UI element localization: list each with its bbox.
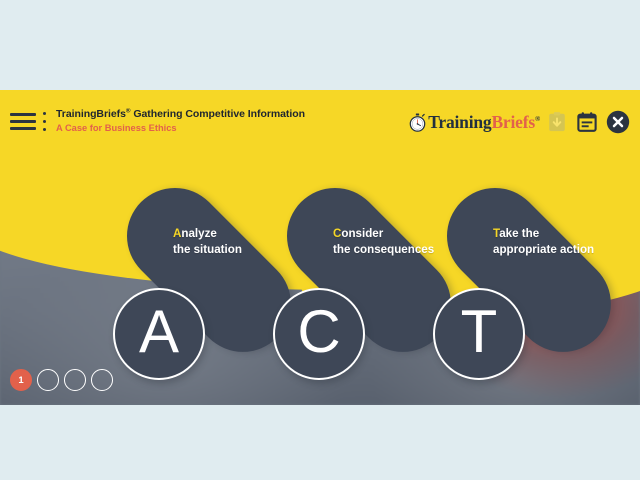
step-letter-t: T [461, 302, 498, 362]
kebab-dot [43, 112, 46, 115]
hamburger-bar [10, 127, 36, 130]
page-title: TrainingBriefs® Gathering Competitive In… [56, 109, 305, 120]
player-window: TrainingBriefs® Gathering Competitive In… [0, 0, 640, 480]
download-icon[interactable] [546, 111, 568, 133]
pagination: 1 [10, 369, 113, 391]
brand-registered-mark: ® [535, 115, 540, 123]
step-label-line1: Take the [493, 226, 633, 242]
step-line1-rest: ake the [499, 227, 539, 240]
slide-canvas: Analyze the situation A Consider the con… [0, 90, 640, 405]
player-header: TrainingBriefs® Gathering Competitive In… [0, 52, 640, 90]
step-letter-circle-t[interactable]: T [433, 288, 525, 380]
page-dot-4[interactable] [91, 369, 113, 391]
step-letter-a: A [139, 302, 179, 362]
close-icon[interactable] [606, 110, 630, 134]
step-letter-circle-c[interactable]: C [273, 288, 365, 380]
footer-area [0, 405, 640, 480]
brand-wordmark: TrainingBriefs® [428, 113, 540, 132]
page-dot-1[interactable]: 1 [10, 369, 32, 391]
brand-part-training: Training [428, 112, 491, 132]
title-block: TrainingBriefs® Gathering Competitive In… [56, 109, 305, 133]
step-line1-rest: nalyze [181, 227, 216, 240]
step-letter-circle-a[interactable]: A [113, 288, 205, 380]
page-dot-3[interactable] [64, 369, 86, 391]
stopwatch-icon [408, 113, 427, 132]
act-step-take-action: Take the appropriate action T [433, 190, 633, 390]
step-label-take-action: Take the appropriate action [493, 226, 633, 257]
step-label-line2: appropriate action [493, 242, 633, 258]
step-line1-rest: onsider [341, 227, 383, 240]
page-dot-2[interactable] [37, 369, 59, 391]
brand-logo: TrainingBriefs® [408, 110, 540, 134]
page-title-rest: Gathering Competitive Information [131, 108, 305, 120]
step-letter-c: C [297, 302, 340, 362]
more-options-icon[interactable] [42, 112, 47, 131]
kebab-dot [43, 120, 46, 123]
hamburger-bar [10, 113, 36, 116]
hamburger-bar [10, 120, 36, 123]
brand-part-briefs: Briefs [491, 112, 535, 132]
page-title-brand: TrainingBriefs [56, 108, 126, 120]
page-subtitle: A Case for Business Ethics [56, 123, 305, 133]
notes-icon[interactable] [576, 111, 598, 133]
hamburger-icon[interactable] [10, 113, 36, 130]
kebab-dot [43, 128, 46, 131]
